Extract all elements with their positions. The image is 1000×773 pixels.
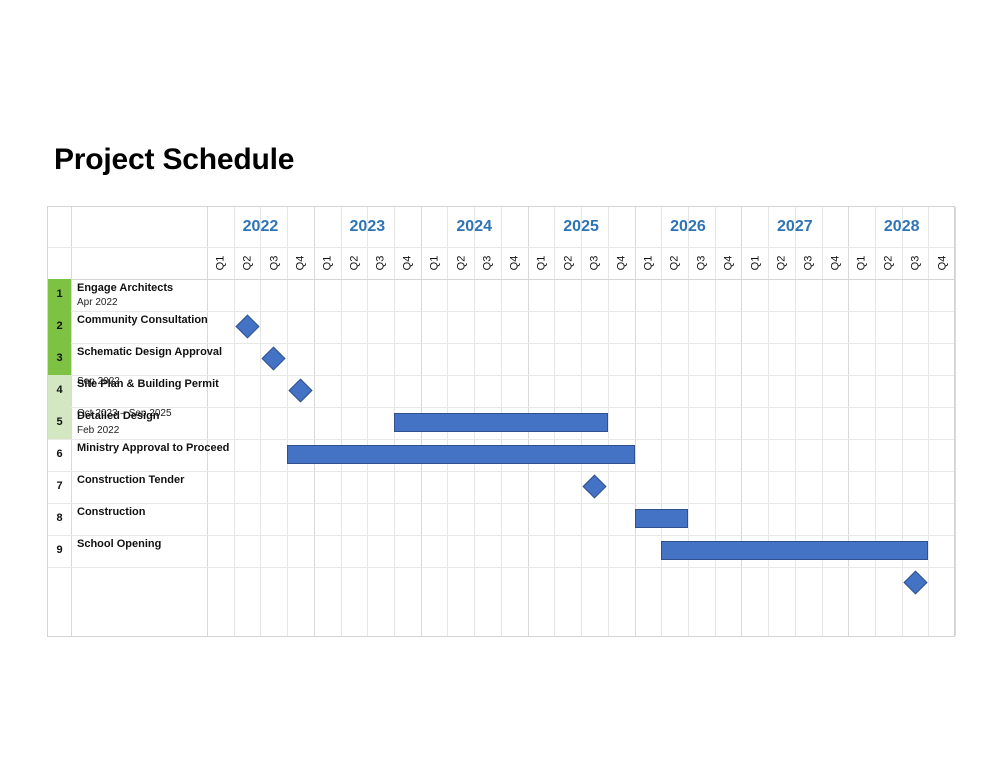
table-row[interactable]: 8Construction [48,503,954,535]
quarter-label: Q2 [233,256,261,271]
row-number-cell: 6 [48,439,71,471]
quarter-header-cell: Q1 [741,249,768,277]
quarter-header-cell: Q1 [314,249,341,277]
row-number-cell: 5 [48,407,71,439]
quarter-header-cell: Q4 [928,249,955,277]
quarter-label: Q1 [634,256,662,271]
task-name: Community Consultation [77,313,242,328]
gantt-bar[interactable] [635,509,688,528]
quarter-header-cell: Q4 [501,249,528,277]
table-row[interactable]: 4Site Plan & Building PermitOct 2023 – S… [48,375,954,407]
quarter-header-cell: Q1 [848,249,875,277]
quarter-header-cell: Q2 [768,249,795,277]
quarter-label: Q2 [340,256,368,271]
quarter-label: Q4 [821,256,849,271]
quarter-header-cell: Q4 [715,249,742,277]
task-name: School Opening [77,537,242,552]
quarter-header-cell: Q2 [447,249,474,277]
task-name: Ministry Approval to Proceed [77,441,242,456]
quarter-header-cell: Q3 [795,249,822,277]
gantt-milestone[interactable] [903,570,927,594]
quarter-header-cell: Q1 [421,249,448,277]
gantt-bar[interactable] [661,541,928,560]
quarter-label: Q3 [260,256,288,271]
quarter-label: Q3 [474,256,502,271]
quarter-label: Q4 [928,256,956,271]
quarter-label: Q3 [687,256,715,271]
task-name: Engage Architects [77,281,242,296]
year-header-2028: 2028 [848,207,955,247]
quarter-header-cell: Q2 [661,249,688,277]
table-row[interactable]: 2Community Consultation [48,311,954,343]
task-date: Feb 2022 [77,424,242,438]
quarter-header-cell: Q3 [367,249,394,277]
grid-line-horizontal [48,567,954,568]
quarter-header-cell: Q2 [554,249,581,277]
quarter-header-row: Q1Q2Q3Q4Q1Q2Q3Q4Q1Q2Q3Q4Q1Q2Q3Q4Q1Q2Q3Q4… [48,247,954,279]
quarter-label: Q2 [661,256,689,271]
quarter-header-cell: Q4 [287,249,314,277]
quarter-label: Q4 [287,256,315,271]
quarter-header-cell: Q3 [474,249,501,277]
quarter-label: Q2 [447,256,475,271]
row-number-cell: 3 [48,343,71,375]
quarter-header-cell: Q3 [581,249,608,277]
row-number-cell: 4 [48,375,71,407]
quarter-label: Q3 [581,256,609,271]
row-number-cell: 1 [48,279,71,311]
year-header-2023: 2023 [314,207,421,247]
quarter-label: Q1 [527,256,555,271]
task-name: Detailed Design [77,409,242,424]
table-row[interactable]: 3Schematic Design ApprovalSep 2022 [48,343,954,375]
row-number-cell: 7 [48,471,71,503]
task-name: Construction [77,505,242,520]
quarter-label: Q4 [500,256,528,271]
quarter-label: Q1 [313,256,341,271]
page-title: Project Schedule [54,143,294,177]
task-date: Apr 2022 [77,296,242,310]
year-header-2026: 2026 [635,207,742,247]
quarter-header-cell: Q2 [875,249,902,277]
quarter-label: Q4 [394,256,422,271]
row-number-cell: 8 [48,503,71,535]
quarter-label: Q1 [207,256,235,271]
quarter-label: Q1 [848,256,876,271]
quarter-header-cell: Q2 [341,249,368,277]
task-name: Schematic Design Approval [77,345,242,360]
quarter-header-cell: Q1 [528,249,555,277]
year-header-row: 2022202320242025202620272028 [48,207,954,247]
quarter-header-cell: Q4 [822,249,849,277]
year-header-2022: 2022 [207,207,314,247]
quarter-header-cell: Q3 [688,249,715,277]
row-number-cell: 2 [48,311,71,343]
row-number-cell: 9 [48,535,71,567]
task-name: Construction Tender [77,473,242,488]
quarter-label: Q1 [420,256,448,271]
quarter-label: Q4 [714,256,742,271]
quarter-header-cell: Q3 [902,249,929,277]
quarter-label: Q4 [607,256,635,271]
quarter-label: Q3 [794,256,822,271]
quarter-header-cell: Q1 [635,249,662,277]
quarter-header-cell: Q4 [608,249,635,277]
gantt-bar[interactable] [287,445,634,464]
quarter-label: Q2 [768,256,796,271]
table-row[interactable]: 1Engage ArchitectsApr 2022 [48,279,954,311]
table-row[interactable]: 7Construction Tender [48,471,954,503]
gantt-bar[interactable] [394,413,608,432]
year-header-2025: 2025 [528,207,635,247]
year-header-2027: 2027 [741,207,848,247]
quarter-label: Q2 [554,256,582,271]
quarter-header-cell: Q3 [260,249,287,277]
quarter-label: Q3 [901,256,929,271]
quarter-header-cell: Q4 [394,249,421,277]
year-header-2024: 2024 [421,207,528,247]
task-name: Site Plan & Building Permit [77,377,242,392]
quarter-label: Q3 [367,256,395,271]
quarter-label: Q2 [875,256,903,271]
quarter-label: Q1 [741,256,769,271]
quarter-header-cell: Q1 [207,249,234,277]
quarter-header-cell: Q2 [234,249,261,277]
gantt-chart: 2022202320242025202620272028 Q1Q2Q3Q4Q1Q… [47,206,955,637]
